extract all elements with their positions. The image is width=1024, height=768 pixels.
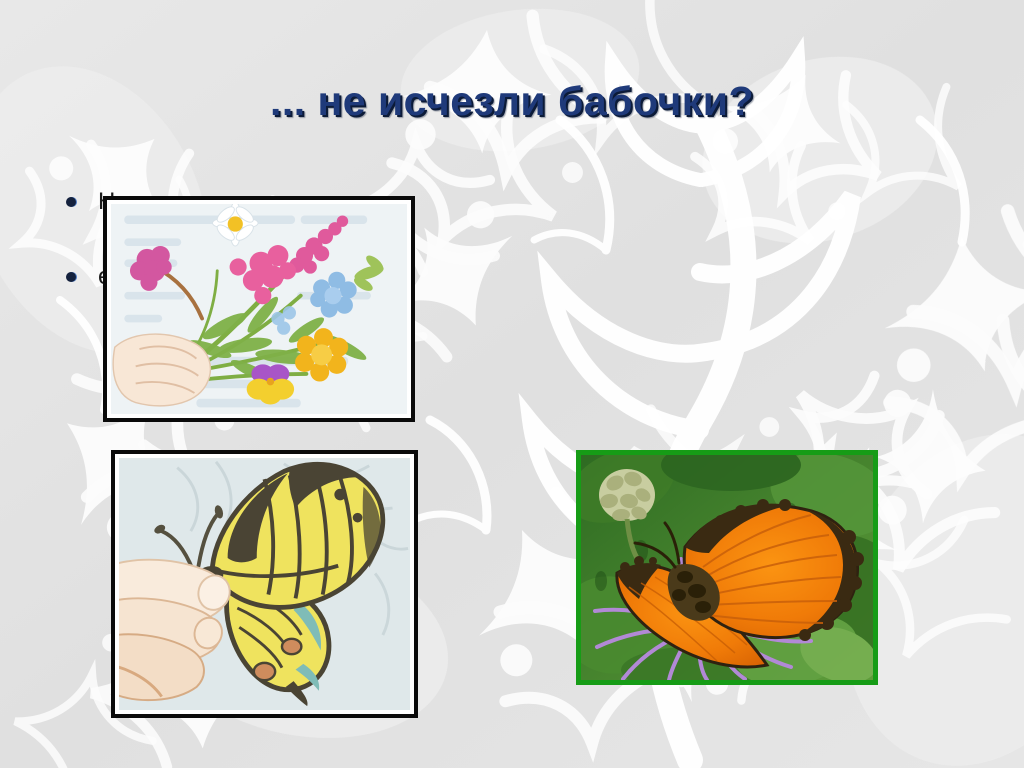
image-orange-butterfly-on-thistle-photo — [576, 450, 878, 685]
swallowtail-butterfly-illustration-icon — [119, 458, 410, 710]
image-hand-holding-swallowtail-butterfly — [111, 450, 418, 718]
page-title: ... не исчезли бабочки? — [0, 78, 1024, 125]
wildflowers-illustration-icon — [111, 204, 407, 414]
image-hand-holding-wildflowers — [103, 196, 415, 422]
orange-butterfly-photo-icon — [581, 455, 873, 680]
